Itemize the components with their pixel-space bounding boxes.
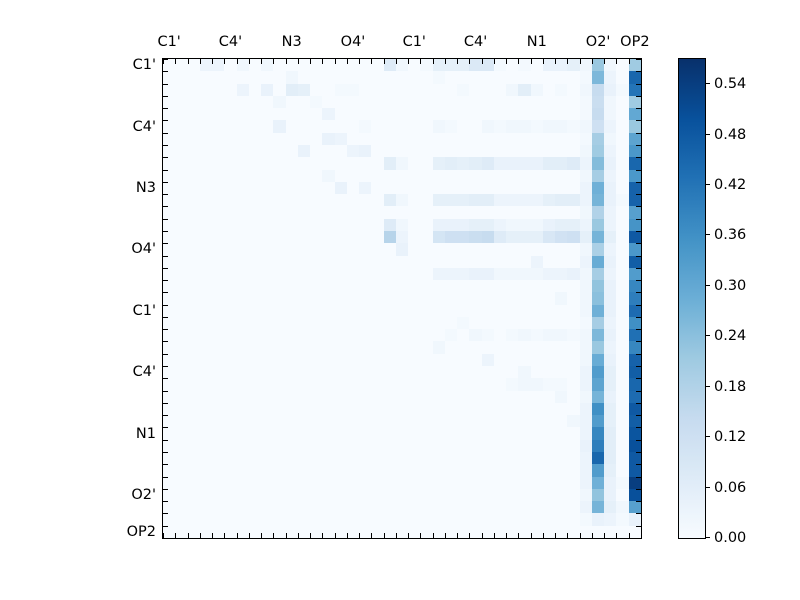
heatmap-cell (212, 219, 224, 231)
heatmap-cell (494, 157, 506, 169)
heatmap-cell (555, 403, 567, 415)
heatmap-cell (408, 427, 420, 439)
heatmap-cell (273, 391, 285, 403)
heatmap-cell (322, 513, 334, 525)
heatmap-cell (224, 329, 236, 341)
heatmap-cell (494, 170, 506, 182)
heatmap-cell (310, 84, 322, 96)
heatmap-cell (518, 366, 530, 378)
heatmap-cell (163, 268, 175, 280)
heatmap-cell (237, 84, 249, 96)
heatmap-cell (200, 305, 212, 317)
heatmap-cell (310, 440, 322, 452)
colorbar-tick (705, 134, 710, 135)
heatmap-cell (175, 440, 187, 452)
heatmap-cell (335, 280, 347, 292)
heatmap-cell (273, 305, 285, 317)
heatmap-cell (433, 84, 445, 96)
heatmap-cell (212, 194, 224, 206)
heatmap-cell (359, 231, 371, 243)
heatmap-cell (261, 84, 273, 96)
heatmap-cell (347, 440, 359, 452)
heatmap-cell (322, 354, 334, 366)
heatmap-cell (249, 391, 261, 403)
heatmap-cell (592, 477, 604, 489)
heatmap-cell (494, 59, 506, 71)
heatmap-cell (163, 489, 175, 501)
heatmap-cell (604, 378, 616, 390)
y-tick (636, 256, 641, 257)
heatmap-cell (212, 391, 224, 403)
heatmap-cell (359, 440, 371, 452)
heatmap-cell (457, 477, 469, 489)
heatmap-cell (457, 194, 469, 206)
heatmap-cell (175, 170, 187, 182)
heatmap-cell (616, 464, 628, 476)
heatmap-cell (629, 501, 641, 513)
heatmap-cell (286, 84, 298, 96)
heatmap-cell (371, 391, 383, 403)
x-tick (531, 533, 532, 538)
heatmap-cell (175, 84, 187, 96)
heatmap-cell (163, 440, 175, 452)
y-tick (636, 391, 641, 392)
heatmap-cell (286, 477, 298, 489)
heatmap-cell (616, 403, 628, 415)
heatmap-cell (531, 305, 543, 317)
heatmap-cell (212, 366, 224, 378)
y-tick (163, 354, 168, 355)
heatmap-cell (237, 464, 249, 476)
heatmap-cell (482, 268, 494, 280)
heatmap-cell (616, 526, 628, 538)
heatmap-cell (445, 108, 457, 120)
heatmap-cell (555, 415, 567, 427)
heatmap-axes: C1'C4'N3O4'C1'C4'N1O2'OP2 C1'C4'N3O4'C1'… (162, 58, 642, 539)
heatmap-cell (249, 170, 261, 182)
heatmap-cell (163, 157, 175, 169)
heatmap-cell (592, 84, 604, 96)
heatmap-cell (322, 231, 334, 243)
heatmap-cell (420, 440, 432, 452)
heatmap-cell (543, 292, 555, 304)
heatmap-cell (286, 231, 298, 243)
heatmap-cell (384, 108, 396, 120)
heatmap-cell (237, 133, 249, 145)
heatmap-cell (163, 133, 175, 145)
heatmap-cell (616, 354, 628, 366)
heatmap-cell (567, 59, 579, 71)
x-tick (482, 533, 483, 538)
heatmap-cell (286, 170, 298, 182)
heatmap-cell (249, 378, 261, 390)
heatmap-cell (286, 513, 298, 525)
heatmap-cell (237, 354, 249, 366)
heatmap-cell (175, 378, 187, 390)
heatmap-cell (604, 341, 616, 353)
heatmap-cell (286, 366, 298, 378)
heatmap-cell (494, 366, 506, 378)
heatmap-cell (592, 194, 604, 206)
heatmap-cell (494, 440, 506, 452)
heatmap-cell (261, 341, 273, 353)
heatmap-cell (237, 378, 249, 390)
heatmap-cell (359, 133, 371, 145)
heatmap-cell (237, 477, 249, 489)
heatmap-cell (261, 477, 273, 489)
heatmap-cell (580, 513, 592, 525)
heatmap-cell (286, 526, 298, 538)
heatmap-cell (200, 489, 212, 501)
heatmap-cell (286, 305, 298, 317)
x-tick (420, 533, 421, 538)
heatmap-cell (273, 194, 285, 206)
heatmap-cell (273, 133, 285, 145)
heatmap-cell (518, 378, 530, 390)
heatmap-cell (567, 108, 579, 120)
heatmap-cell (420, 501, 432, 513)
heatmap-cell (175, 317, 187, 329)
y-tick (163, 157, 168, 158)
heatmap-cell (482, 133, 494, 145)
heatmap-cell (494, 317, 506, 329)
heatmap-cell (335, 170, 347, 182)
heatmap-cell (580, 231, 592, 243)
heatmap-cell (592, 71, 604, 83)
heatmap-cell (175, 59, 187, 71)
heatmap-cell (555, 170, 567, 182)
heatmap-cell (408, 366, 420, 378)
heatmap-cell (592, 133, 604, 145)
heatmap-cell (567, 120, 579, 132)
heatmap-cell (616, 219, 628, 231)
heatmap-cell (408, 194, 420, 206)
colorbar-tick-label: 0.54 (714, 76, 746, 92)
heatmap-cell (175, 329, 187, 341)
heatmap-cell (518, 182, 530, 194)
heatmap-cell (371, 231, 383, 243)
heatmap-cell (592, 243, 604, 255)
heatmap-cell (310, 256, 322, 268)
heatmap-cell (555, 489, 567, 501)
heatmap-cell (212, 513, 224, 525)
heatmap-cell (212, 145, 224, 157)
heatmap-cell (310, 120, 322, 132)
heatmap-cell (237, 268, 249, 280)
heatmap-cell (531, 108, 543, 120)
heatmap-cell (494, 133, 506, 145)
heatmap-cell (629, 378, 641, 390)
heatmap-cell (261, 329, 273, 341)
x-tick (261, 59, 262, 64)
heatmap-cell (371, 378, 383, 390)
heatmap-cell (469, 133, 481, 145)
heatmap-cell (359, 84, 371, 96)
heatmap-cell (604, 243, 616, 255)
heatmap-cell (469, 157, 481, 169)
heatmap-cell (592, 280, 604, 292)
heatmap-cell (200, 513, 212, 525)
heatmap-cell (322, 366, 334, 378)
heatmap-cell (567, 243, 579, 255)
heatmap-cell (469, 96, 481, 108)
heatmap-cell (249, 452, 261, 464)
heatmap-cell (469, 501, 481, 513)
colorbar-tick (705, 436, 710, 437)
heatmap-cell (420, 513, 432, 525)
heatmap-cell (371, 84, 383, 96)
heatmap-cell (629, 415, 641, 427)
heatmap-cell (286, 464, 298, 476)
heatmap-cell (408, 464, 420, 476)
heatmap-cell (445, 513, 457, 525)
heatmap-cell (543, 378, 555, 390)
y-tick (163, 182, 168, 183)
heatmap-cell (310, 71, 322, 83)
y-tick (163, 403, 168, 404)
heatmap-cell (261, 305, 273, 317)
heatmap-cell (396, 305, 408, 317)
heatmap-cell (469, 268, 481, 280)
heatmap-cell (347, 96, 359, 108)
x-tick (384, 59, 385, 64)
heatmap-cell (408, 219, 420, 231)
heatmap-cell (175, 256, 187, 268)
heatmap-cell (592, 120, 604, 132)
heatmap-cell (592, 452, 604, 464)
heatmap-cell (531, 427, 543, 439)
heatmap-cell (224, 96, 236, 108)
heatmap-cell (469, 427, 481, 439)
heatmap-cell (518, 489, 530, 501)
heatmap-cell (531, 256, 543, 268)
x-tick (249, 59, 250, 64)
heatmap-cell (273, 206, 285, 218)
heatmap-cell (604, 219, 616, 231)
heatmap-cell (506, 452, 518, 464)
heatmap-cell (188, 378, 200, 390)
heatmap-cell (616, 292, 628, 304)
x-tick (494, 533, 495, 538)
heatmap-cell (494, 292, 506, 304)
heatmap-cell (518, 403, 530, 415)
heatmap-cell (482, 501, 494, 513)
heatmap-cell (604, 415, 616, 427)
heatmap-cell (518, 427, 530, 439)
heatmap-cell (494, 96, 506, 108)
heatmap-cell (592, 182, 604, 194)
heatmap-cell (420, 329, 432, 341)
heatmap-cell (347, 206, 359, 218)
heatmap-cell (249, 194, 261, 206)
y-tick-label: C1' (133, 303, 156, 319)
heatmap-cell (384, 452, 396, 464)
heatmap-cell (273, 145, 285, 157)
heatmap-cell (237, 391, 249, 403)
heatmap-cell (543, 59, 555, 71)
y-tick (163, 231, 168, 232)
heatmap-cell (555, 427, 567, 439)
heatmap-cell (445, 292, 457, 304)
y-tick (636, 464, 641, 465)
heatmap-cell (445, 354, 457, 366)
heatmap-cell (494, 243, 506, 255)
heatmap-cell (506, 415, 518, 427)
heatmap-cell (629, 292, 641, 304)
heatmap-cell (543, 84, 555, 96)
heatmap-cell (310, 415, 322, 427)
heatmap-cell (543, 341, 555, 353)
heatmap-cell (506, 170, 518, 182)
heatmap-cell (224, 108, 236, 120)
y-tick (636, 477, 641, 478)
heatmap-cell (163, 391, 175, 403)
heatmap-cell (445, 243, 457, 255)
heatmap-cell (261, 194, 273, 206)
heatmap-cell (580, 243, 592, 255)
heatmap-cell (322, 256, 334, 268)
heatmap-cell (384, 219, 396, 231)
heatmap-cell (310, 501, 322, 513)
heatmap-cell (200, 317, 212, 329)
heatmap-cell (237, 513, 249, 525)
heatmap-cell (469, 292, 481, 304)
heatmap-cell (359, 354, 371, 366)
heatmap-cell (384, 256, 396, 268)
heatmap-cell (445, 489, 457, 501)
heatmap-cell (518, 59, 530, 71)
heatmap-cell (580, 526, 592, 538)
heatmap-cell (347, 145, 359, 157)
heatmap-cell (518, 145, 530, 157)
heatmap-cell (543, 194, 555, 206)
heatmap-cell (531, 145, 543, 157)
y-tick (636, 317, 641, 318)
heatmap-cell (555, 59, 567, 71)
heatmap-cell (420, 268, 432, 280)
heatmap-cell (457, 96, 469, 108)
heatmap-cell (310, 194, 322, 206)
heatmap-cell (188, 280, 200, 292)
heatmap-cell (237, 415, 249, 427)
colorbar-tick (705, 234, 710, 235)
heatmap-cell (163, 329, 175, 341)
heatmap-cell (298, 415, 310, 427)
heatmap-cell (433, 403, 445, 415)
heatmap-cell (531, 440, 543, 452)
heatmap-cell (200, 452, 212, 464)
heatmap-cell (249, 366, 261, 378)
heatmap-cell (335, 366, 347, 378)
colorbar-tick (705, 285, 710, 286)
heatmap-cell (433, 489, 445, 501)
heatmap-cell (224, 354, 236, 366)
heatmap-cell (188, 84, 200, 96)
heatmap-cell (580, 96, 592, 108)
heatmap-cell (616, 145, 628, 157)
heatmap-cell (310, 513, 322, 525)
heatmap-cell (163, 231, 175, 243)
x-tick (322, 533, 323, 538)
heatmap-cell (482, 513, 494, 525)
heatmap-cell (384, 71, 396, 83)
heatmap-cell (531, 280, 543, 292)
heatmap-cell (616, 378, 628, 390)
heatmap-cell (543, 403, 555, 415)
heatmap-cell (322, 206, 334, 218)
heatmap-cell (273, 182, 285, 194)
heatmap-cell (273, 317, 285, 329)
heatmap-cell (543, 145, 555, 157)
heatmap-cell (580, 440, 592, 452)
y-tick (636, 513, 641, 514)
heatmap-cell (567, 477, 579, 489)
heatmap-cell (616, 366, 628, 378)
heatmap-cell (347, 292, 359, 304)
x-tick (518, 533, 519, 538)
heatmap-cell (604, 194, 616, 206)
heatmap-cell (249, 317, 261, 329)
heatmap-cell (555, 243, 567, 255)
heatmap-cell (580, 489, 592, 501)
x-tick (310, 59, 311, 64)
heatmap-cell (494, 84, 506, 96)
heatmap-cell (273, 219, 285, 231)
heatmap-cell (580, 366, 592, 378)
heatmap-cell (175, 243, 187, 255)
heatmap-cell (592, 305, 604, 317)
heatmap-cell (371, 477, 383, 489)
heatmap-cell (212, 317, 224, 329)
y-tick-label: N3 (136, 180, 156, 196)
heatmap-cell (518, 452, 530, 464)
heatmap-cell (200, 145, 212, 157)
heatmap-cell (286, 219, 298, 231)
heatmap-cell (408, 108, 420, 120)
heatmap-cell (629, 489, 641, 501)
heatmap-cell (567, 268, 579, 280)
heatmap-cell (457, 243, 469, 255)
heatmap-cell (592, 219, 604, 231)
heatmap-cell (469, 489, 481, 501)
heatmap-cell (200, 268, 212, 280)
heatmap-cell (224, 256, 236, 268)
heatmap-cell (482, 243, 494, 255)
heatmap-cell (163, 477, 175, 489)
colorbar: 0.000.060.120.180.240.300.360.420.480.54 (678, 58, 706, 539)
heatmap-cell (163, 464, 175, 476)
heatmap-cell (408, 231, 420, 243)
heatmap-cell (371, 256, 383, 268)
heatmap-cell (188, 440, 200, 452)
heatmap-cell (359, 170, 371, 182)
y-tick (163, 391, 168, 392)
heatmap-cell (224, 305, 236, 317)
colorbar-tick (705, 386, 710, 387)
heatmap-cell (200, 427, 212, 439)
y-tick (163, 219, 168, 220)
heatmap-cell (482, 464, 494, 476)
heatmap-cell (371, 415, 383, 427)
heatmap-cell (420, 464, 432, 476)
heatmap-cell (482, 526, 494, 538)
heatmap-cell (322, 170, 334, 182)
heatmap-cell (384, 243, 396, 255)
heatmap-cell (604, 206, 616, 218)
heatmap-cell (224, 415, 236, 427)
heatmap-cell (580, 378, 592, 390)
heatmap-cell (261, 170, 273, 182)
